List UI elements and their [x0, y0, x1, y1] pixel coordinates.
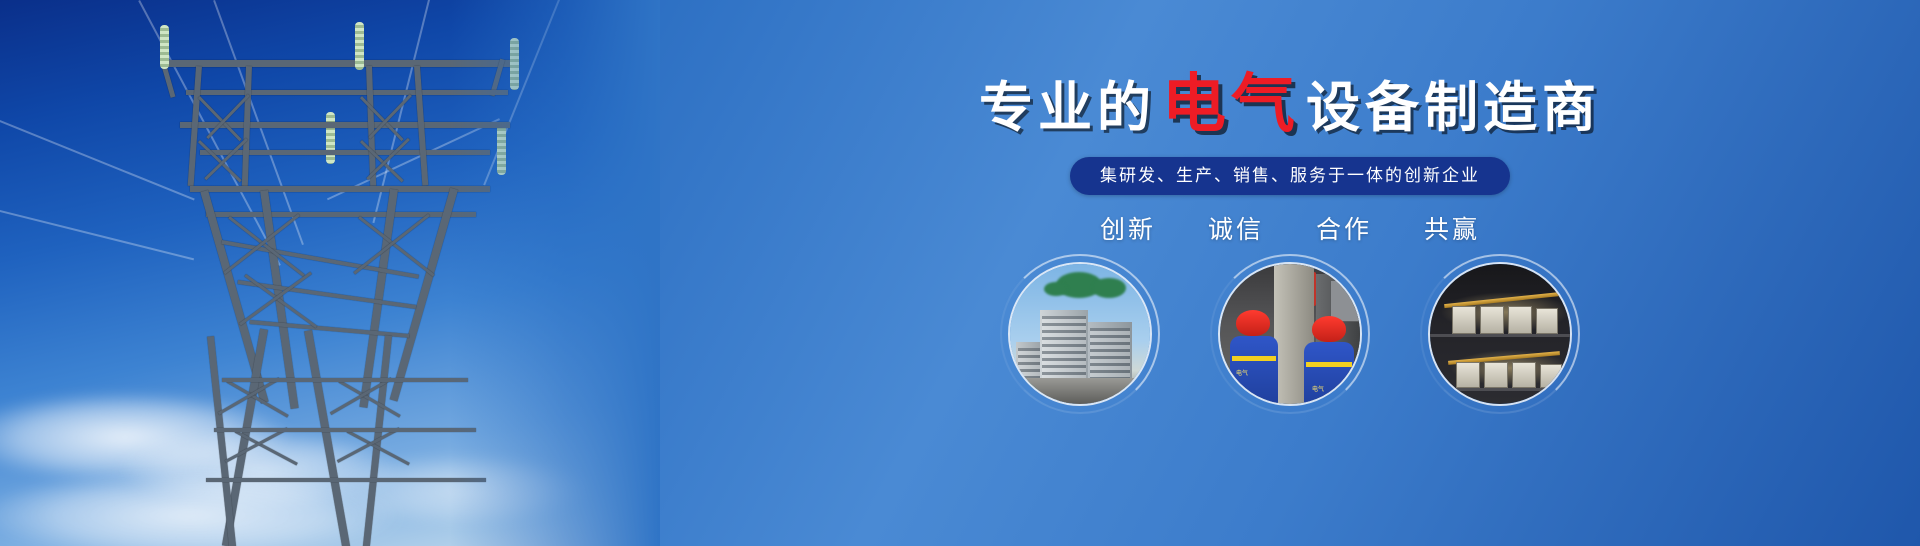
- banner-content: 专业的电气设备制造商 集研发、生产、销售、服务于一体的创新企业 创新 诚信 合作…: [660, 0, 1920, 546]
- keyword-integrity: 诚信: [1208, 210, 1264, 246]
- headline-highlight: 电气: [1162, 68, 1300, 140]
- headline-part-1: 专业的: [979, 78, 1156, 138]
- circle-image-mask: 电气 电气 two workers in red helmets and blu…: [1218, 262, 1362, 406]
- circle-image-mask: dark showroom wall with illuminated disp…: [1428, 262, 1572, 406]
- keyword-list: 创新 诚信 合作 共赢: [660, 210, 1920, 246]
- circle-photo-showroom: dark showroom wall with illuminated disp…: [1428, 262, 1572, 406]
- electricity-transmission-tower-photo: [0, 0, 660, 546]
- promotional-banner: 专业的电气设备制造商 集研发、生产、销售、服务于一体的创新企业 创新 诚信 合作…: [0, 0, 1920, 546]
- workers-installing-photo: 电气 电气: [1220, 264, 1360, 404]
- showroom-display-photo: [1430, 264, 1570, 404]
- circle-image-mask: company office building exterior: [1008, 262, 1152, 406]
- circle-photo-office-building: company office building exterior: [1008, 262, 1152, 406]
- circle-photo-workers: 电气 电气 two workers in red helmets and blu…: [1218, 262, 1362, 406]
- keyword-innovation: 创新: [1100, 210, 1156, 246]
- headline-part-2: 设备制造商: [1306, 78, 1601, 138]
- photo-blend-gradient: [450, 0, 660, 546]
- photo-circle-group: company office building exterior: [660, 262, 1920, 406]
- subtitle-pill: 集研发、生产、销售、服务于一体的创新企业: [1070, 157, 1510, 195]
- office-building-photo: [1010, 264, 1150, 404]
- page-title: 专业的电气设备制造商: [660, 72, 1920, 136]
- keyword-winwin: 共赢: [1424, 210, 1480, 246]
- keyword-cooperation: 合作: [1316, 210, 1372, 246]
